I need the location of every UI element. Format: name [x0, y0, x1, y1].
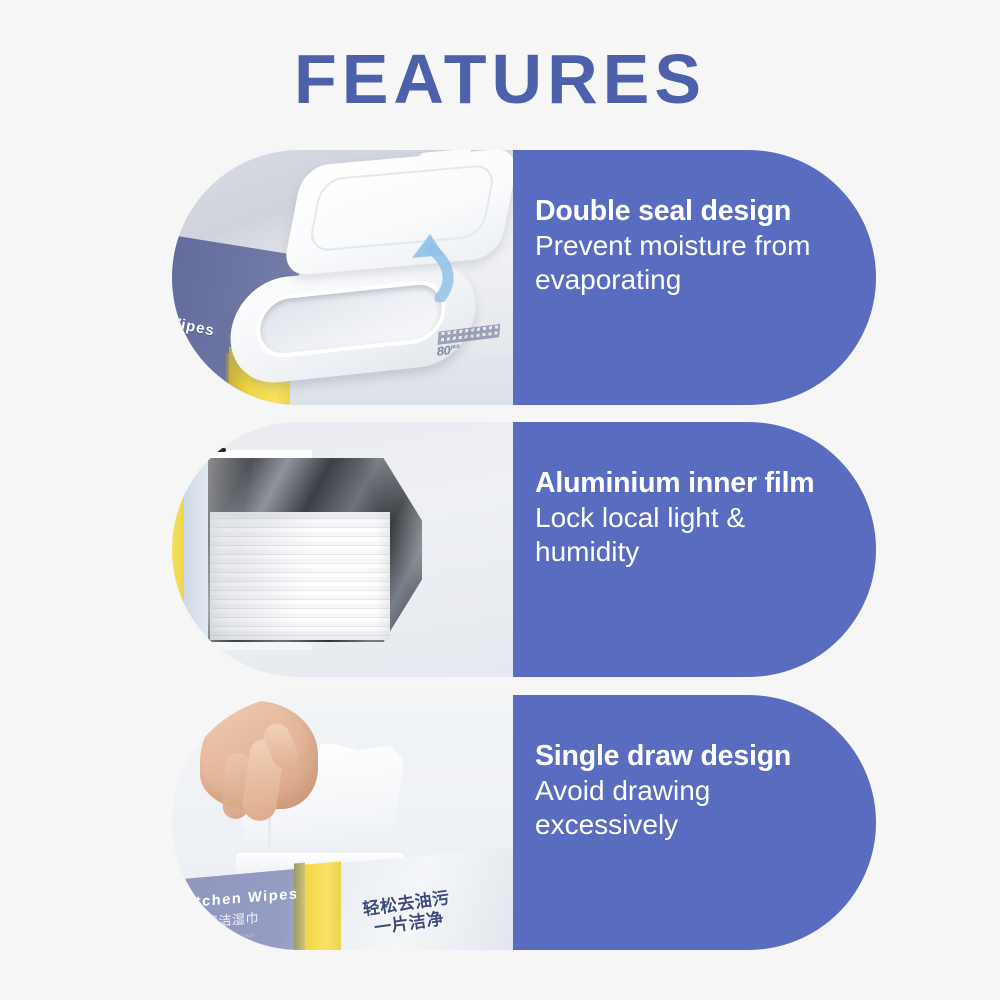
hand-drawing-single-wipe-photo: Kitchen Wipes 厨房清洁湿巾 Remove oil pollutio… — [172, 695, 513, 950]
curved-up-arrow-icon — [400, 228, 466, 302]
feature-title: Double seal design — [535, 196, 836, 228]
feature-subtitle: Lock local light & humidity — [535, 501, 836, 569]
pack-top-seam — [172, 448, 226, 452]
feature-subtitle: Avoid drawing excessively — [535, 774, 836, 842]
page-title: FEATURES — [0, 44, 1000, 114]
feature-text-panel: Double seal design Prevent moisture from… — [513, 150, 876, 405]
feature-text-panel: Aluminium inner film Lock local light & … — [513, 422, 876, 677]
wipes-pack-open-lid-photo: Wipes 80pcs — [172, 150, 513, 405]
feature-title: Aluminium inner film — [535, 468, 836, 500]
badge-count-unit: pcs — [450, 344, 459, 351]
feature-subtitle: Prevent moisture from evaporating — [535, 229, 836, 297]
aluminium-inner-film-photo — [172, 422, 513, 677]
aluminium-film-sheen — [208, 458, 422, 642]
feature-row: Wipes 80pcs Double seal design Prevent m… — [172, 150, 876, 405]
feature-text-panel: Single draw design Avoid drawing excessi… — [513, 695, 876, 950]
feature-title: Single draw design — [535, 741, 836, 773]
pack-stripe-yellow — [172, 460, 184, 646]
pack-stripe-yellow — [305, 861, 341, 950]
pack-brand-block: Kitchen Wipes 厨房清洁湿巾 Remove oil pollutio… — [178, 886, 299, 944]
feature-row: Kitchen Wipes 厨房清洁湿巾 Remove oil pollutio… — [172, 695, 876, 950]
feature-row: Aluminium inner film Lock local light & … — [172, 422, 876, 677]
